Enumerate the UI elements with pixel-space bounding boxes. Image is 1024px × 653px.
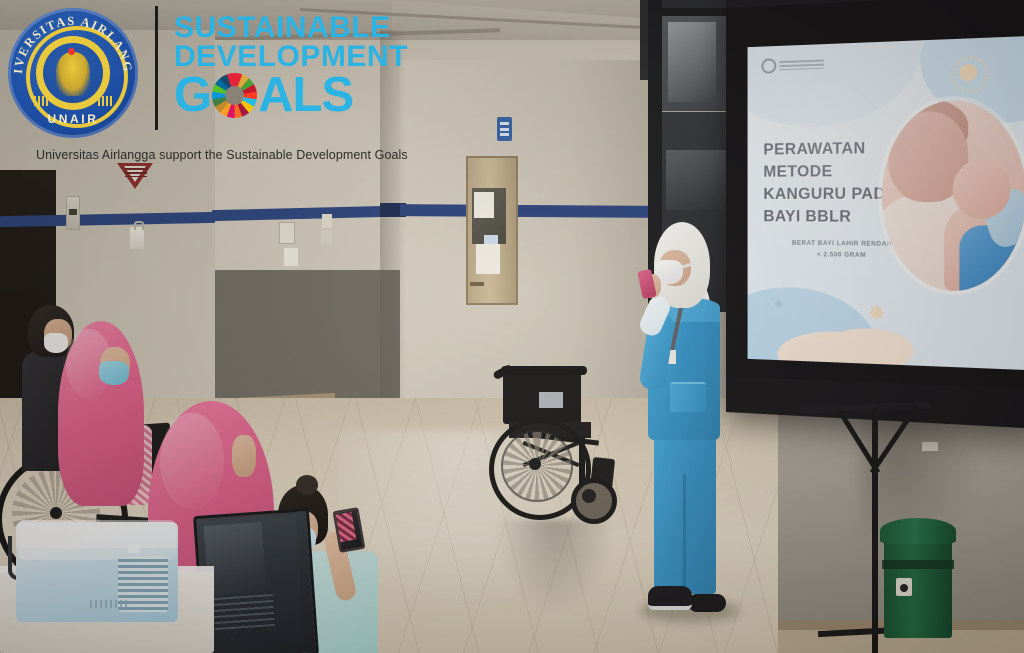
door-notice-1 <box>474 192 494 218</box>
wheelchair-hub <box>529 458 541 470</box>
photograph: ✸ ✦ PERAWATAN METODE KANGURU PADA BAYI B… <box>0 0 1024 653</box>
waste-bin-label <box>896 578 912 596</box>
slide-logo-mark-icon <box>761 58 776 74</box>
attendee-1-face-mask <box>44 333 68 353</box>
hand-sanitizer-dispenser <box>130 227 144 249</box>
screen-top-bar <box>726 0 1024 8</box>
wheelchair-armrest <box>501 366 587 375</box>
baby-head <box>953 159 1011 219</box>
slide-mother-baby-photo <box>882 99 1024 293</box>
projector-button <box>128 544 140 553</box>
wheelchair-caster-wheel <box>571 478 617 524</box>
attendee-2-face-mask <box>99 361 129 385</box>
attendee-4-hair-bun <box>296 475 318 495</box>
wall-switch <box>66 196 80 230</box>
window-reflection <box>668 22 716 102</box>
wheelchair-caster-hub <box>582 489 596 503</box>
door-notice-2 <box>476 244 500 274</box>
wheelchair-floor-reflection <box>495 520 615 615</box>
slide-logo-text <box>779 60 824 71</box>
screenshot-root: ✸ ✦ PERAWATAN METODE KANGURU PADA BAYI B… <box>0 0 1024 653</box>
window-reflection-2 <box>666 150 726 210</box>
slide-cloud-shape-2 <box>824 327 914 370</box>
sparkle-icon: ✸ <box>867 303 886 325</box>
wall-paper-notice-2 <box>322 214 332 228</box>
presenter-shoe-left <box>648 586 692 610</box>
presentation-slide: ✸ ✦ PERAWATAN METODE KANGURU PADA BAYI B… <box>748 36 1024 370</box>
presenter-leg-seam <box>683 474 686 594</box>
waste-bin-band <box>882 560 954 569</box>
projector-plastic-wrap <box>18 520 176 560</box>
presenter-shoe-right <box>688 594 726 612</box>
projection-screen: ✸ ✦ PERAWATAN METODE KANGURU PADA BAYI B… <box>726 0 1024 429</box>
laptop-screen-content <box>213 594 275 634</box>
screen-stand-pole <box>872 408 878 653</box>
empty-wheelchair <box>487 366 627 531</box>
green-waste-bin <box>884 528 952 638</box>
blue-information-sign <box>497 117 512 141</box>
dispenser-hook <box>134 221 144 230</box>
wall-notice-board <box>279 222 295 244</box>
wall-card-holder <box>321 230 332 244</box>
audience-wheelchair-hub <box>50 507 62 519</box>
attendee-3-hijab-highlight <box>160 413 224 509</box>
door-handle <box>470 282 484 286</box>
presenter-pocket <box>670 382 706 412</box>
projector-label <box>90 600 130 608</box>
wall-stripe-pillar <box>400 204 662 218</box>
slide-university-logo <box>761 56 823 73</box>
wheelchair-label <box>539 392 563 408</box>
wall-paper-notice <box>284 248 298 266</box>
sun-icon <box>959 64 977 82</box>
wall-socket <box>922 442 938 451</box>
presenter <box>626 222 736 622</box>
waste-bin-lid <box>880 518 956 544</box>
attendee-3-face <box>232 435 256 477</box>
warning-sign-text <box>125 168 147 177</box>
sparkle-icon-2: ✦ <box>771 296 785 314</box>
